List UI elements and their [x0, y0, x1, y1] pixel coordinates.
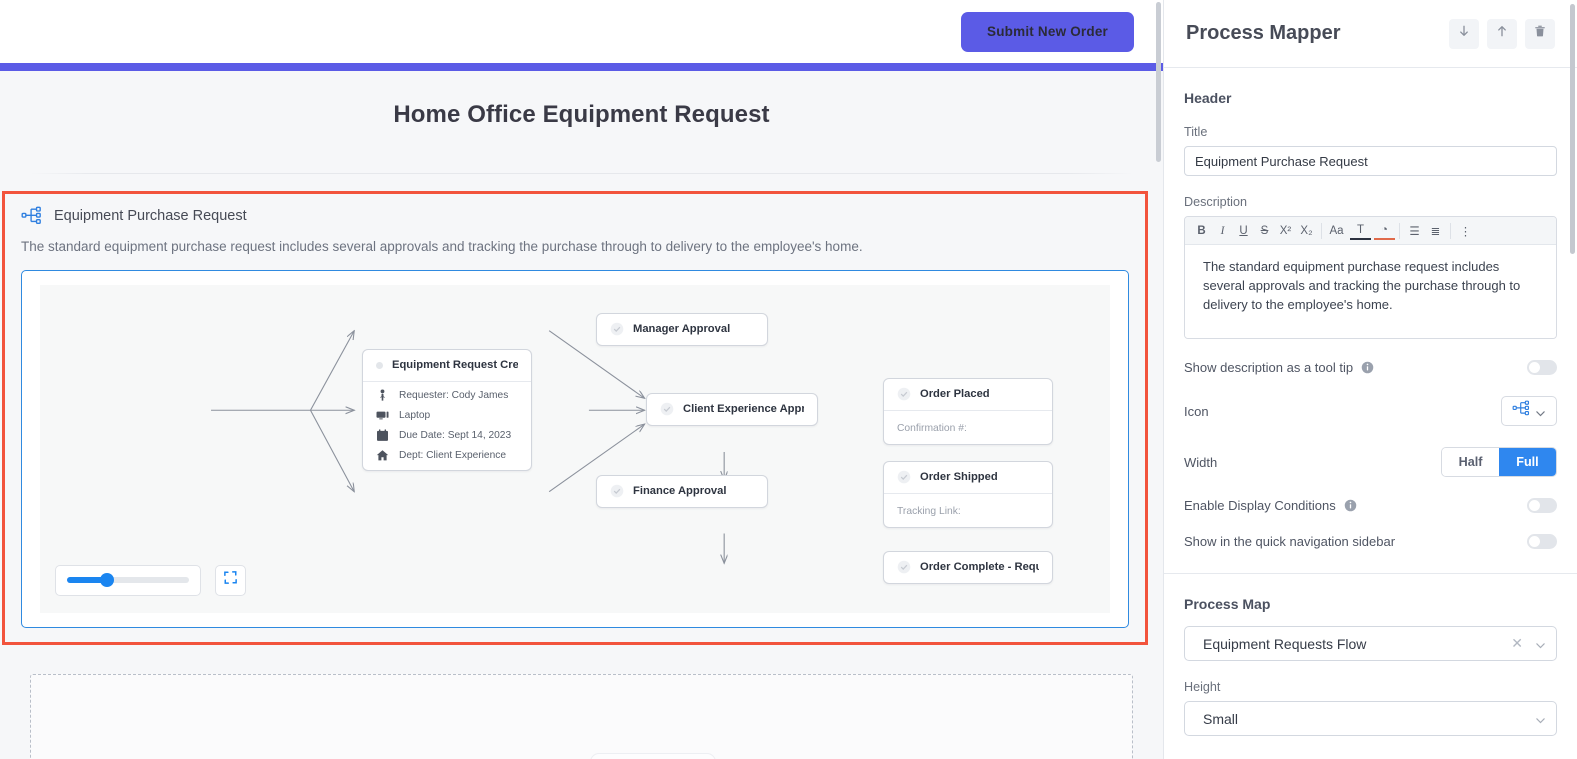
flow-canvas[interactable]: Equipment Request Created ... Requester:… [40, 285, 1110, 613]
header-group-label: Header [1184, 90, 1557, 106]
monitor-icon [376, 409, 389, 422]
process-map-select[interactable]: Equipment Requests Flow ✕ [1184, 626, 1557, 661]
height-field-label: Height [1184, 680, 1557, 694]
flow-node-details: Requester: Cody James Laptop [363, 381, 531, 470]
tooltip-toggle[interactable] [1527, 360, 1557, 375]
display-conditions-text: Enable Display Conditions [1184, 498, 1336, 513]
move-down-button[interactable] [1449, 19, 1479, 49]
zoom-slider[interactable] [55, 565, 201, 596]
detail-text: Dept: Client Experience [399, 450, 506, 461]
info-icon[interactable] [1344, 499, 1357, 512]
check-circle-icon [610, 484, 624, 498]
home-icon [376, 449, 389, 462]
width-option-full[interactable]: Full [1499, 448, 1556, 476]
chevron-down-icon [1535, 406, 1546, 417]
panel-scrollbar[interactable] [1570, 4, 1575, 254]
quick-nav-row: Show in the quick navigation sidebar [1184, 534, 1557, 549]
calendar-icon [376, 429, 389, 442]
chevron-down-icon [1535, 713, 1546, 724]
process-map-icon [1512, 400, 1531, 422]
text-color-button[interactable]: T [1350, 222, 1371, 240]
flow-node-order-placed[interactable]: Order Placed Confirmation #: [883, 378, 1053, 445]
detail-text: Due Date: Sept 14, 2023 [399, 430, 511, 441]
process-map-icon [21, 206, 43, 226]
fullscreen-button[interactable] [215, 565, 246, 596]
submit-new-order-button[interactable]: Submit New Order [961, 12, 1134, 52]
description-text: The standard equipment purchase request … [1203, 258, 1542, 315]
display-conditions-label: Enable Display Conditions [1184, 498, 1357, 513]
main-scrollbar[interactable] [1156, 2, 1161, 162]
zoom-slider-track[interactable] [67, 577, 189, 583]
flow-node-header: Order Shipped [884, 462, 1052, 493]
detail-text: Laptop [399, 410, 430, 421]
person-icon [376, 389, 389, 402]
page-title: Home Office Equipment Request [0, 101, 1163, 129]
section-header: Equipment Purchase Request [21, 206, 1129, 226]
bullet-list-button[interactable]: ☰ [1404, 220, 1425, 242]
check-circle-icon [610, 322, 624, 336]
flow-node-title: Order Complete - Request ... [920, 561, 1039, 573]
tooltip-row: Show description as a tool tip [1184, 360, 1557, 375]
more-options-button[interactable]: ⋮ [1455, 220, 1476, 242]
process-map-frame[interactable]: Equipment Request Created ... Requester:… [21, 270, 1129, 628]
arrow-down-icon [1457, 24, 1471, 43]
flow-node-title: Order Placed [920, 388, 990, 400]
properties-panel: Process Mapper Header Title Descr [1163, 0, 1577, 759]
display-conditions-row: Enable Display Conditions [1184, 498, 1557, 513]
process-map-group-label: Process Map [1184, 596, 1557, 612]
check-circle-icon [897, 470, 911, 484]
empty-section-dropzone[interactable] [30, 674, 1133, 759]
flow-node-order-shipped[interactable]: Order Shipped Tracking Link: [883, 461, 1053, 528]
panel-header: Process Mapper [1164, 0, 1577, 68]
display-conditions-toggle[interactable] [1527, 498, 1557, 513]
italic-button[interactable]: I [1212, 220, 1233, 242]
panel-section-divider [1164, 573, 1577, 574]
canvas-zoom-controls [55, 565, 246, 596]
flow-node-title: Client Experience Approval [683, 403, 804, 415]
section-title: Equipment Purchase Request [54, 208, 247, 224]
icon-row: Icon [1184, 396, 1557, 426]
dot-marker-icon [376, 362, 383, 369]
zoom-slider-handle[interactable] [100, 573, 114, 587]
detail-row: Dept: Client Experience [376, 449, 518, 462]
title-field-label: Title [1184, 125, 1557, 139]
width-row: Width Half Full [1184, 447, 1557, 477]
flow-node-field: Confirmation #: [884, 410, 1052, 444]
font-size-button[interactable]: Aa [1326, 220, 1347, 242]
width-segmented-control: Half Full [1441, 447, 1557, 477]
flow-node-header: Equipment Request Created ... [363, 350, 531, 381]
flow-node-header: Client Experience Approval [647, 394, 817, 425]
flow-node-title: Finance Approval [633, 485, 726, 497]
rich-text-body[interactable]: The standard equipment purchase request … [1185, 245, 1556, 338]
section-description: The standard equipment purchase request … [21, 238, 1129, 256]
check-circle-icon [897, 560, 911, 574]
icon-row-label: Icon [1184, 404, 1209, 419]
quick-nav-label: Show in the quick navigation sidebar [1184, 534, 1395, 549]
fullscreen-icon [223, 570, 238, 590]
detail-text: Requester: Cody James [399, 390, 508, 401]
info-icon[interactable] [1361, 361, 1374, 374]
highlight-button[interactable]: ◔ [1374, 222, 1395, 240]
height-value: Small [1203, 711, 1535, 727]
clear-icon[interactable]: ✕ [1511, 635, 1523, 652]
process-mapper-section[interactable]: Equipment Purchase Request The standard … [2, 191, 1148, 645]
toolbar-divider [1399, 223, 1400, 239]
icon-select-button[interactable] [1501, 396, 1557, 426]
width-option-half[interactable]: Half [1442, 448, 1499, 476]
detail-row: Laptop [376, 409, 518, 422]
detail-row: Due Date: Sept 14, 2023 [376, 429, 518, 442]
flow-node-header: Manager Approval [597, 314, 767, 345]
title-divider [30, 173, 1133, 174]
numbered-list-button[interactable]: ≣ [1425, 220, 1446, 242]
tooltip-row-text: Show description as a tool tip [1184, 360, 1353, 375]
rich-text-toolbar: B I U S X² X₂ Aa T ◔ ☰ ≣ ⋮ [1185, 217, 1556, 245]
superscript-button[interactable]: X² [1275, 220, 1296, 242]
flow-node-finance-approval[interactable]: Finance Approval [596, 475, 768, 508]
detail-row: Requester: Cody James [376, 389, 518, 402]
flow-node-header: Finance Approval [597, 476, 767, 507]
trash-icon [1533, 24, 1547, 43]
flow-node-title: Equipment Request Created ... [392, 359, 518, 371]
arrow-up-icon [1495, 24, 1509, 43]
chevron-down-icon [1535, 638, 1546, 649]
flow-node-header: Order Placed [884, 379, 1052, 410]
field-label: Confirmation #: [897, 423, 967, 434]
delete-button[interactable] [1525, 19, 1555, 49]
description-field-label: Description [1184, 195, 1557, 209]
check-circle-icon [897, 387, 911, 401]
toolbar-divider [1450, 223, 1451, 239]
flow-node-header: Order Complete - Request ... [884, 552, 1052, 583]
flow-node-client-experience-approval[interactable]: Client Experience Approval [646, 393, 818, 426]
width-row-label: Width [1184, 455, 1217, 470]
page-title-area: Home Office Equipment Request [0, 71, 1163, 129]
quick-nav-toggle[interactable] [1527, 534, 1557, 549]
toolbar-divider [1321, 223, 1322, 239]
panel-body: Header Title Description B I U S X² X₂ A… [1164, 68, 1577, 736]
flow-node-title: Order Shipped [920, 471, 998, 483]
flow-node-order-complete[interactable]: Order Complete - Request ... [883, 551, 1053, 584]
bold-button[interactable]: B [1191, 220, 1212, 242]
main-content-pane: Submit New Order Home Office Equipment R… [0, 0, 1163, 759]
strikethrough-button[interactable]: S [1254, 220, 1275, 242]
flow-node-field: Tracking Link: [884, 493, 1052, 527]
flow-node-manager-approval[interactable]: Manager Approval [596, 313, 768, 346]
subscript-button[interactable]: X₂ [1296, 220, 1317, 242]
top-bar: Submit New Order [0, 0, 1163, 63]
flow-node-start[interactable]: Equipment Request Created ... Requester:… [362, 349, 532, 471]
rich-text-editor[interactable]: B I U S X² X₂ Aa T ◔ ☰ ≣ ⋮ Th [1184, 216, 1557, 339]
height-select[interactable]: Small [1184, 701, 1557, 736]
flow-node-title: Manager Approval [633, 323, 730, 335]
title-input[interactable] [1184, 146, 1557, 176]
tooltip-row-label: Show description as a tool tip [1184, 360, 1374, 375]
check-circle-icon [660, 402, 674, 416]
process-map-value: Equipment Requests Flow [1203, 636, 1511, 652]
panel-title: Process Mapper [1186, 22, 1441, 45]
underline-button[interactable]: U [1233, 220, 1254, 242]
field-label: Tracking Link: [897, 506, 961, 517]
move-up-button[interactable] [1487, 19, 1517, 49]
accent-bar [0, 63, 1163, 71]
